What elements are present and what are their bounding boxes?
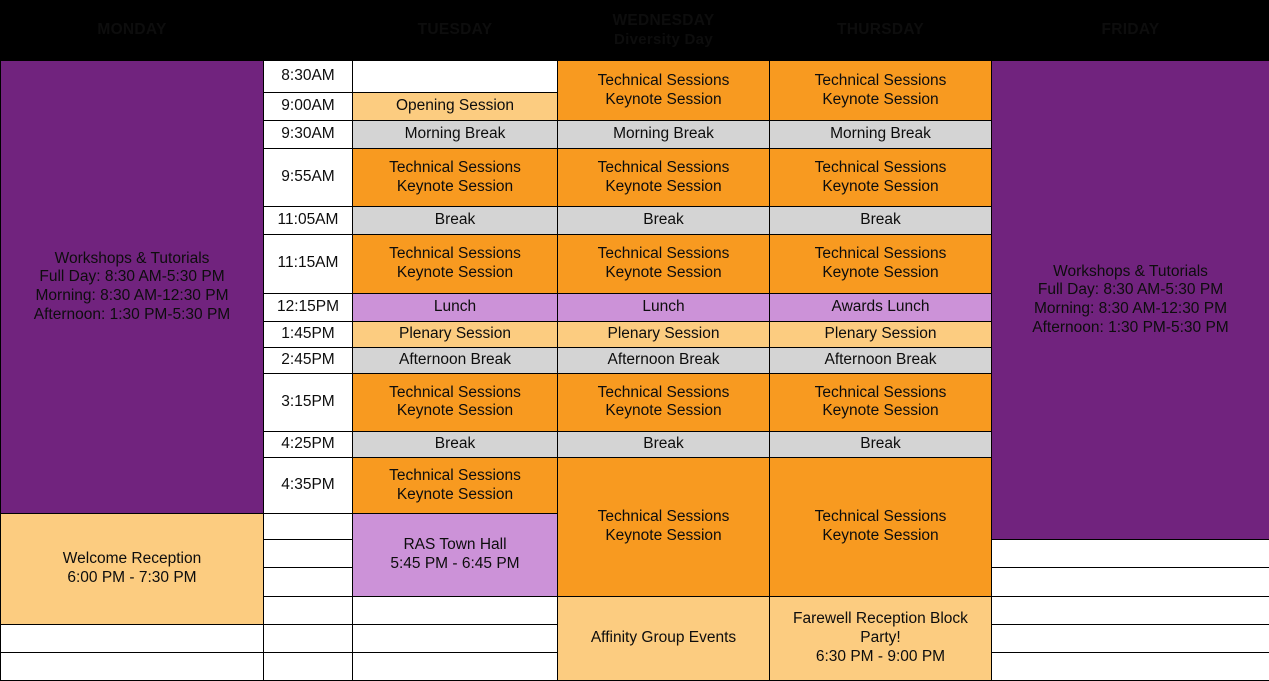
time-label xyxy=(264,596,353,624)
session-keynote-label: Keynote Session xyxy=(772,91,989,110)
day-header-thursday-label: THURSDAY xyxy=(837,21,924,38)
tuesday-slot-empty xyxy=(353,596,558,624)
time-label xyxy=(264,514,353,540)
time-label: 9:55AM xyxy=(264,148,353,206)
time-label: 4:25PM xyxy=(264,432,353,458)
tuesday-sessions-1115: Technical Sessions Keynote Session xyxy=(353,235,558,293)
friday-slot-empty xyxy=(992,624,1269,652)
thursday-plenary-session: Plenary Session xyxy=(770,321,992,347)
welcome-reception-title: Welcome Reception xyxy=(3,550,261,569)
monday-slot-empty xyxy=(1,652,264,680)
monday-workshops-title: Workshops & Tutorials xyxy=(3,250,261,269)
session-keynote-label: Keynote Session xyxy=(560,527,767,546)
friday-workshops-morning: Morning: 8:30 AM-12:30 PM xyxy=(994,300,1267,319)
time-label: 8:30AM xyxy=(264,61,353,92)
time-label: 9:00AM xyxy=(264,92,353,120)
session-technical-label: Technical Sessions xyxy=(355,467,555,486)
time-label: 11:05AM xyxy=(264,207,353,235)
wednesday-affinity-group-events: Affinity Group Events xyxy=(558,596,770,680)
time-label: 9:30AM xyxy=(264,120,353,148)
time-label xyxy=(264,652,353,680)
time-label: 2:45PM xyxy=(264,347,353,373)
ras-town-hall-title: RAS Town Hall xyxy=(355,536,555,555)
day-header-tuesday-label: TUESDAY xyxy=(418,21,493,38)
tuesday-sessions-0315: Technical Sessions Keynote Session xyxy=(353,373,558,431)
time-label: 11:15AM xyxy=(264,235,353,293)
wednesday-morning-break: Morning Break xyxy=(558,120,770,148)
monday-welcome-reception: Welcome Reception 6:00 PM - 7:30 PM xyxy=(1,514,264,624)
wednesday-sessions-0955: Technical Sessions Keynote Session xyxy=(558,148,770,206)
schedule-row: Workshops & Tutorials Full Day: 8:30 AM-… xyxy=(1,61,1269,92)
friday-slot-empty xyxy=(992,540,1269,568)
wednesday-break-0425: Break xyxy=(558,432,770,458)
session-keynote-label: Keynote Session xyxy=(772,178,989,197)
tuesday-slot-empty xyxy=(353,624,558,652)
time-label xyxy=(264,568,353,596)
farewell-reception-title: Farewell Reception Block Party! xyxy=(772,610,989,648)
session-keynote-label: Keynote Session xyxy=(355,264,555,283)
welcome-reception-time: 6:00 PM - 7:30 PM xyxy=(3,569,261,588)
session-keynote-label: Keynote Session xyxy=(560,402,767,421)
thursday-sessions-evening: Technical Sessions Keynote Session xyxy=(770,458,992,596)
session-keynote-label: Keynote Session xyxy=(772,264,989,283)
friday-slot-empty xyxy=(992,568,1269,596)
day-header-wednesday-label: WEDNESDAY xyxy=(612,12,714,29)
tuesday-plenary-session: Plenary Session xyxy=(353,321,558,347)
thursday-farewell-reception: Farewell Reception Block Party! 6:30 PM … xyxy=(770,596,992,680)
session-technical-label: Technical Sessions xyxy=(355,159,555,178)
session-keynote-label: Keynote Session xyxy=(772,402,989,421)
session-technical-label: Technical Sessions xyxy=(560,245,767,264)
session-technical-label: Technical Sessions xyxy=(560,508,767,527)
session-technical-label: Technical Sessions xyxy=(772,508,989,527)
wednesday-break-1105: Break xyxy=(558,207,770,235)
friday-slot-empty xyxy=(992,596,1269,624)
thursday-sessions-1115: Technical Sessions Keynote Session xyxy=(770,235,992,293)
day-header-time-spacer xyxy=(264,1,353,61)
session-technical-label: Technical Sessions xyxy=(355,384,555,403)
header-row: MONDAY TUESDAY WEDNESDAY Diversity Day T… xyxy=(1,1,1269,61)
monday-slot-empty xyxy=(1,624,264,652)
tuesday-break-1105: Break xyxy=(353,207,558,235)
conference-schedule-table: MONDAY TUESDAY WEDNESDAY Diversity Day T… xyxy=(0,0,1269,681)
monday-workshops-afternoon: Afternoon: 1:30 PM-5:30 PM xyxy=(3,306,261,325)
session-technical-label: Technical Sessions xyxy=(772,72,989,91)
day-header-monday: MONDAY xyxy=(1,1,264,61)
session-keynote-label: Keynote Session xyxy=(560,91,767,110)
time-label: 3:15PM xyxy=(264,373,353,431)
day-header-thursday: THURSDAY xyxy=(770,1,992,61)
time-label: 12:15PM xyxy=(264,293,353,321)
monday-workshops-morning: Morning: 8:30 AM-12:30 PM xyxy=(3,287,261,306)
day-header-friday: FRIDAY xyxy=(992,1,1269,61)
thursday-sessions-0955: Technical Sessions Keynote Session xyxy=(770,148,992,206)
wednesday-afternoon-break: Afternoon Break xyxy=(558,347,770,373)
session-technical-label: Technical Sessions xyxy=(772,245,989,264)
ras-town-hall-time: 5:45 PM - 6:45 PM xyxy=(355,555,555,574)
friday-slot-empty xyxy=(992,652,1269,680)
session-technical-label: Technical Sessions xyxy=(355,245,555,264)
friday-workshops-title: Workshops & Tutorials xyxy=(994,263,1267,282)
tuesday-slot-empty xyxy=(353,61,558,92)
farewell-reception-time: 6:30 PM - 9:00 PM xyxy=(772,648,989,667)
thursday-awards-lunch: Awards Lunch xyxy=(770,293,992,321)
wednesday-sessions-0315: Technical Sessions Keynote Session xyxy=(558,373,770,431)
tuesday-ras-town-hall: RAS Town Hall 5:45 PM - 6:45 PM xyxy=(353,514,558,596)
wednesday-sessions-evening: Technical Sessions Keynote Session xyxy=(558,458,770,596)
day-header-wednesday: WEDNESDAY Diversity Day xyxy=(558,1,770,61)
session-technical-label: Technical Sessions xyxy=(772,159,989,178)
time-label: 1:45PM xyxy=(264,321,353,347)
thursday-break-1105: Break xyxy=(770,207,992,235)
thursday-sessions-0315: Technical Sessions Keynote Session xyxy=(770,373,992,431)
day-header-friday-label: FRIDAY xyxy=(1101,21,1159,38)
session-technical-label: Technical Sessions xyxy=(772,384,989,403)
thursday-afternoon-break: Afternoon Break xyxy=(770,347,992,373)
session-keynote-label: Keynote Session xyxy=(355,178,555,197)
session-keynote-label: Keynote Session xyxy=(772,527,989,546)
time-label xyxy=(264,624,353,652)
session-technical-label: Technical Sessions xyxy=(560,159,767,178)
wednesday-sessions-1115: Technical Sessions Keynote Session xyxy=(558,235,770,293)
session-keynote-label: Keynote Session xyxy=(560,264,767,283)
thursday-morning-sessions: Technical Sessions Keynote Session xyxy=(770,61,992,120)
tuesday-sessions-0955: Technical Sessions Keynote Session xyxy=(353,148,558,206)
friday-workshops-block: Workshops & Tutorials Full Day: 8:30 AM-… xyxy=(992,61,1269,540)
session-keynote-label: Keynote Session xyxy=(355,402,555,421)
tuesday-opening-session: Opening Session xyxy=(353,92,558,120)
wednesday-plenary-session: Plenary Session xyxy=(558,321,770,347)
monday-workshops-block: Workshops & Tutorials Full Day: 8:30 AM-… xyxy=(1,61,264,514)
session-technical-label: Technical Sessions xyxy=(560,72,767,91)
wednesday-morning-sessions: Technical Sessions Keynote Session xyxy=(558,61,770,120)
tuesday-sessions-0435: Technical Sessions Keynote Session xyxy=(353,458,558,514)
tuesday-slot-empty xyxy=(353,652,558,680)
time-label: 4:35PM xyxy=(264,458,353,514)
tuesday-lunch: Lunch xyxy=(353,293,558,321)
session-keynote-label: Keynote Session xyxy=(560,178,767,197)
tuesday-morning-break: Morning Break xyxy=(353,120,558,148)
day-header-tuesday: TUESDAY xyxy=(353,1,558,61)
tuesday-break-0425: Break xyxy=(353,432,558,458)
friday-workshops-afternoon: Afternoon: 1:30 PM-5:30 PM xyxy=(994,319,1267,338)
tuesday-afternoon-break: Afternoon Break xyxy=(353,347,558,373)
wednesday-lunch: Lunch xyxy=(558,293,770,321)
session-keynote-label: Keynote Session xyxy=(355,486,555,505)
thursday-morning-break: Morning Break xyxy=(770,120,992,148)
day-header-monday-label: MONDAY xyxy=(97,21,166,38)
thursday-break-0425: Break xyxy=(770,432,992,458)
time-label xyxy=(264,540,353,568)
friday-workshops-full-day: Full Day: 8:30 AM-5:30 PM xyxy=(994,281,1267,300)
session-technical-label: Technical Sessions xyxy=(560,384,767,403)
day-header-wednesday-subtitle: Diversity Day xyxy=(560,31,767,49)
monday-workshops-full-day: Full Day: 8:30 AM-5:30 PM xyxy=(3,268,261,287)
